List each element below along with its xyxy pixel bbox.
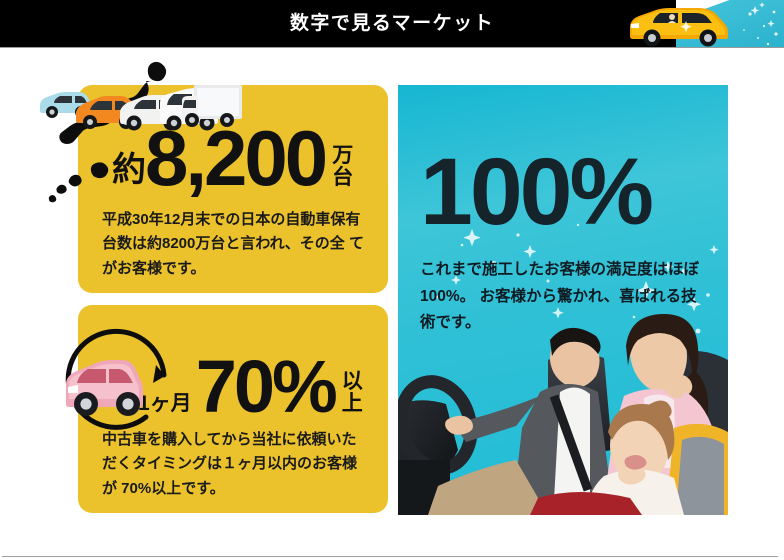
stat-unit-bottom: 上 [342, 393, 363, 415]
stat-unit-bottom: 台 [332, 167, 353, 189]
stat-description: 中古車を購入してから当社に依頼いただくタイミングは１ヶ月以内のお客様が 70%以… [102, 428, 368, 501]
yellow-car-icon [620, 1, 740, 48]
pink-car-icon [66, 360, 143, 416]
stat-unit: 以 上 [342, 371, 363, 421]
stat-card-timing: 1ヶ月 70% 以 上 中古車を購入してから当社に依頼いただくタイミングは１ヶ月… [78, 305, 388, 513]
light-blue-car-icon [40, 92, 91, 118]
stat-headline-vehicles: 約 8,200 万 台 [112, 123, 353, 195]
father-figure [428, 328, 612, 515]
header-divider [0, 47, 784, 48]
footer-divider [2, 556, 778, 557]
stat-prefix: 1ヶ月 [138, 393, 192, 421]
family-in-car-photo [398, 300, 728, 515]
stat-headline-timing: 1ヶ月 70% 以 上 [138, 353, 363, 421]
satisfaction-panel: 100% これまで施工したお客様の満足度はほぼ100%。 お客様から驚かれ、喜ば… [398, 85, 728, 515]
stat-unit: 万 台 [332, 145, 353, 195]
stat-unit-top: 万 [332, 145, 353, 167]
header-bar: 数字で見るマーケット [0, 0, 784, 48]
stat-prefix: 約 [112, 153, 145, 195]
stat-description: 平成30年12月末での日本の自動車保有台数は約8200万台と言われ、その全 てが… [102, 208, 368, 281]
stat-number: 70% [196, 353, 335, 421]
stat-card-vehicles: 約 8,200 万 台 平成30年12月末での日本の自動車保有台数は約8200万… [78, 85, 388, 293]
satisfaction-headline: 100% [420, 145, 651, 240]
stat-number: 8,200 [145, 123, 325, 195]
stat-unit-top: 以 [342, 371, 363, 393]
